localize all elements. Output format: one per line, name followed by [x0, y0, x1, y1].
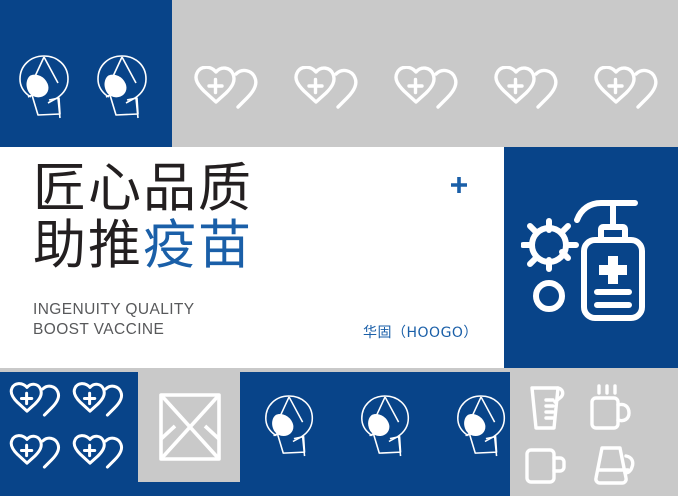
sanitizer-pump-bottle-icon — [521, 196, 661, 322]
double-heart-plus-icon — [592, 66, 664, 120]
plus-icon — [451, 177, 467, 193]
masked-face-icon — [452, 392, 514, 460]
subtitle-line-2: BOOST VACCINE — [33, 320, 195, 340]
headline-line-2: 助推疫苗 — [33, 217, 333, 274]
hearts-top-row — [192, 66, 664, 120]
hearts-bottom-grid — [8, 382, 132, 478]
vessels-grid — [524, 384, 662, 488]
headline-line-2-dark: 助推 — [33, 215, 143, 276]
double-heart-plus-icon — [8, 434, 65, 478]
steaming-cup-icon — [588, 384, 632, 432]
double-heart-plus-icon — [292, 66, 364, 120]
double-heart-plus-icon — [392, 66, 464, 120]
image-placeholder-icon — [158, 392, 222, 462]
subtitle-line-1: INGENUITY QUALITY — [33, 300, 195, 320]
double-heart-plus-icon — [71, 434, 128, 478]
measuring-beaker-icon — [524, 384, 566, 432]
double-heart-plus-icon — [71, 382, 128, 426]
double-heart-plus-icon — [192, 66, 264, 120]
double-heart-plus-icon — [8, 382, 65, 426]
mug-icon — [524, 444, 568, 488]
headline-line-2-blue: 疫苗 — [143, 215, 253, 276]
masked-face-icon — [14, 52, 78, 122]
headline-line-1: 匠心品质 — [33, 160, 333, 217]
masked-face-icon — [260, 392, 322, 460]
subtitle: INGENUITY QUALITY BOOST VACCINE — [33, 300, 195, 340]
masks-top-row — [14, 52, 156, 122]
masked-face-icon — [92, 52, 156, 122]
double-heart-plus-icon — [492, 66, 564, 120]
carafe-icon — [590, 444, 636, 488]
headline: 匠心品质 助推疫苗 — [33, 160, 333, 274]
poster-canvas: 匠心品质 助推疫苗 INGENUITY QUALITY BOOST VACCIN… — [0, 0, 678, 496]
masked-face-icon — [356, 392, 418, 460]
brand-name: 华固（HOOGO） — [363, 322, 478, 342]
masks-bottom-row — [260, 392, 514, 460]
